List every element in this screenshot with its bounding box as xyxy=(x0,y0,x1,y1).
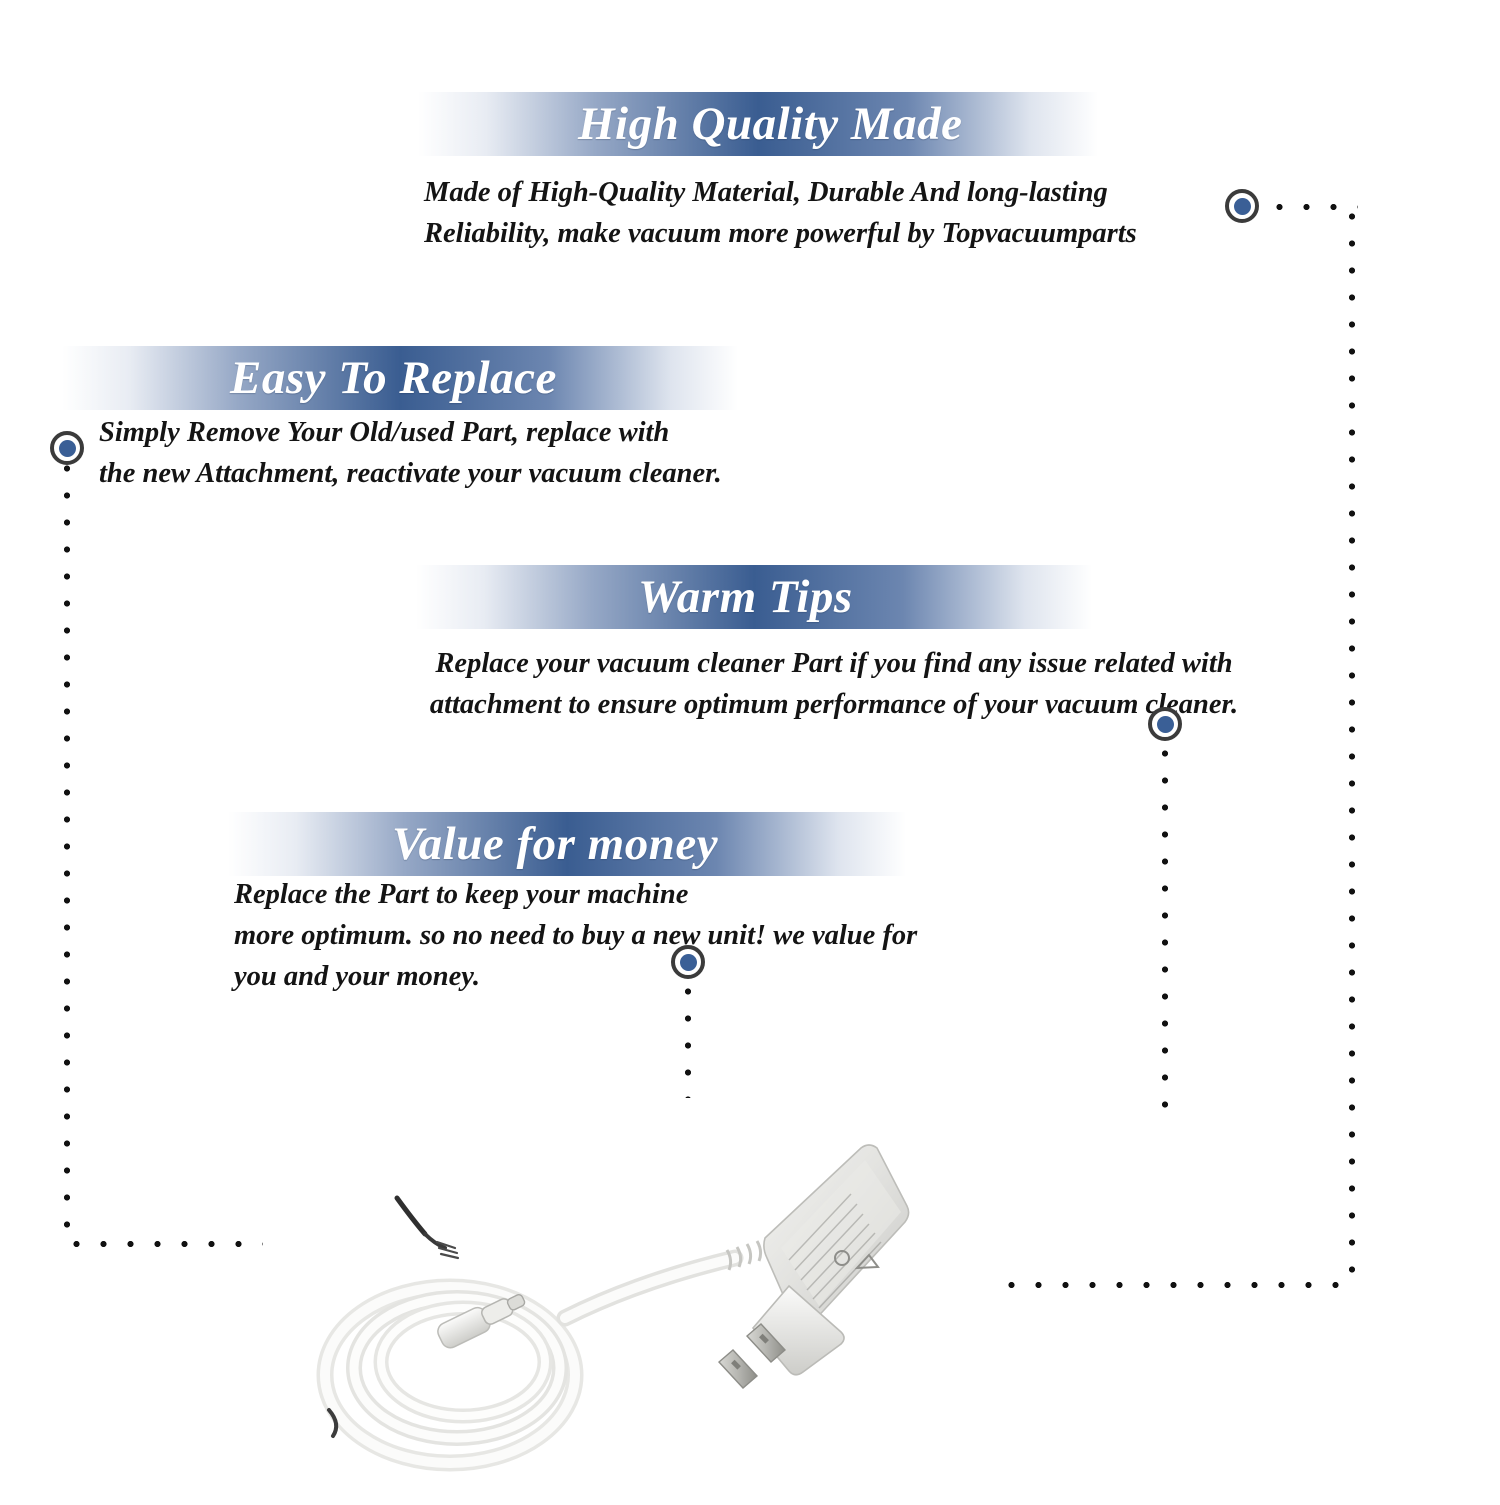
section-body-high-quality-made: Made of High-Quality Material, Durable A… xyxy=(424,172,1184,254)
connector-right-vertical xyxy=(1348,203,1356,1289)
connector-warm-tips-vertical xyxy=(1161,740,1169,1110)
section-banner-warm-tips: Warm Tips xyxy=(416,565,1092,629)
connector-top-horizontal xyxy=(1266,203,1358,211)
section-title-easy-to-replace: Easy To Replace xyxy=(230,355,557,402)
section-body-value-for-money: Replace the Part to keep your machine mo… xyxy=(234,874,994,997)
product-image-ac-power-adapter xyxy=(265,1110,915,1500)
section-title-warm-tips: Warm Tips xyxy=(638,574,853,621)
callout-marker-warm-tips xyxy=(1148,707,1182,741)
connector-left-vertical xyxy=(63,455,71,1245)
callout-marker-value-for-money xyxy=(671,945,705,979)
section-body-easy-to-replace: Simply Remove Your Old/used Part, replac… xyxy=(99,412,799,494)
section-banner-value-for-money: Value for money xyxy=(228,812,906,876)
connector-bottom-right-horizontal xyxy=(998,1281,1354,1289)
section-banner-high-quality-made: High Quality Made xyxy=(418,92,1098,156)
section-body-warm-tips: Replace your vacuum cleaner Part if you … xyxy=(404,643,1264,725)
section-title-value-for-money: Value for money xyxy=(392,821,718,868)
section-banner-easy-to-replace: Easy To Replace xyxy=(62,346,738,410)
callout-marker-high-quality-made xyxy=(1225,189,1259,223)
section-title-high-quality-made: High Quality Made xyxy=(578,101,963,148)
infographic-canvas: High Quality Made Made of High-Quality M… xyxy=(0,0,1500,1500)
connector-bottom-left-horizontal xyxy=(63,1240,263,1248)
callout-marker-easy-to-replace xyxy=(50,431,84,465)
